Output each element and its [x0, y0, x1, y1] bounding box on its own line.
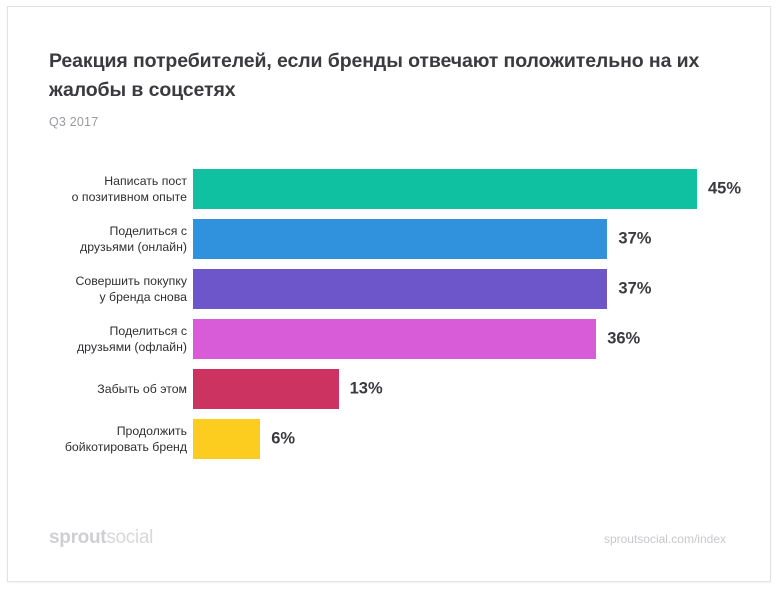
chart-row: Совершить покупку у бренда снова37%: [8, 269, 770, 309]
bar-track: 36%: [193, 319, 770, 359]
category-label: Продолжить бойкотировать бренд: [37, 423, 187, 455]
bar-1[interactable]: [193, 169, 697, 209]
chart-row: Продолжить бойкотировать бренд6%: [8, 419, 770, 459]
bar-6[interactable]: [193, 419, 260, 459]
bar-value-label: 45%: [708, 180, 741, 199]
category-label: Совершить покупку у бренда снова: [37, 273, 187, 305]
bar-track: 37%: [193, 219, 770, 259]
bar-chart-plot: Написать пост о позитивном опыте45%Подел…: [8, 169, 770, 469]
bar-5[interactable]: [193, 369, 339, 409]
bar-value-label: 37%: [618, 280, 651, 299]
category-label: Забыть об этом: [37, 381, 187, 397]
bar-track: 37%: [193, 269, 770, 309]
bar-value-label: 37%: [618, 230, 651, 249]
chart-row: Поделиться с друзьями (офлайн)36%: [8, 319, 770, 359]
chart-footer: sproutsocial sproutsocial.com/index: [8, 527, 770, 551]
chart-card: Реакция потребителей, если бренды отвеча…: [7, 6, 771, 582]
chart-row: Написать пост о позитивном опыте45%: [8, 169, 770, 209]
chart-subtitle: Q3 2017: [49, 115, 709, 129]
bar-value-label: 13%: [350, 380, 383, 399]
chart-header: Реакция потребителей, если бренды отвеча…: [49, 47, 709, 129]
logo-light-text: social: [106, 527, 153, 548]
category-label: Поделиться с друзьями (офлайн): [37, 323, 187, 355]
bar-track: 45%: [193, 169, 770, 209]
bar-track: 6%: [193, 419, 770, 459]
bar-value-label: 36%: [607, 330, 640, 349]
bar-track: 13%: [193, 369, 770, 409]
bar-2[interactable]: [193, 219, 607, 259]
sprout-social-logo: sproutsocial: [49, 527, 153, 549]
bar-4[interactable]: [193, 319, 596, 359]
page-title: Реакция потребителей, если бренды отвеча…: [49, 47, 709, 105]
bar-3[interactable]: [193, 269, 607, 309]
bar-value-label: 6%: [271, 430, 295, 449]
chart-row: Поделиться с друзьями (онлайн)37%: [8, 219, 770, 259]
chart-row: Забыть об этом13%: [8, 369, 770, 409]
logo-bold-text: sprout: [49, 527, 106, 548]
source-url: sproutsocial.com/index: [604, 532, 726, 546]
category-label: Поделиться с друзьями (онлайн): [37, 223, 187, 255]
category-label: Написать пост о позитивном опыте: [37, 173, 187, 205]
